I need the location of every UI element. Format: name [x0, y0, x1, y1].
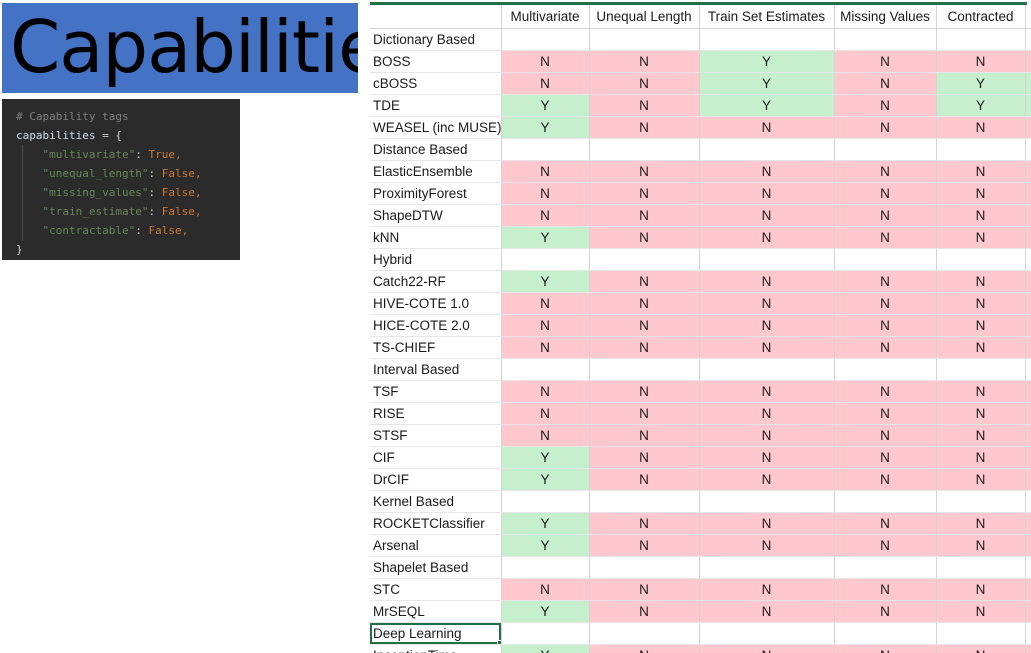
cell-multivariate[interactable]: Y	[501, 513, 589, 535]
cell-unequal-length[interactable]	[589, 29, 699, 51]
classifier-name-cell[interactable]: WEASEL (inc MUSE)	[370, 117, 501, 139]
cell-train-set-estimates[interactable]: N	[699, 183, 834, 205]
classifier-name-cell[interactable]: CIF	[370, 447, 501, 469]
cell-unequal-length[interactable]: N	[589, 535, 699, 557]
cell-contracted[interactable]: N	[936, 469, 1025, 491]
code-snippet-block: # Capability tags capabilities = { "mult…	[2, 99, 240, 260]
classifier-name-cell[interactable]: TDE	[370, 95, 501, 117]
cell-multivariate[interactable]	[501, 249, 589, 271]
cell-unequal-length[interactable]: N	[589, 227, 699, 249]
classifier-name-cell[interactable]: Catch22-RF	[370, 271, 501, 293]
table-row[interactable]: CIFYNNNN	[370, 447, 1031, 469]
table-row[interactable]: ElasticEnsembleNNNNN	[370, 161, 1031, 183]
cell-unequal-length[interactable]: N	[589, 161, 699, 183]
classifier-name-cell[interactable]: ElasticEnsemble	[370, 161, 501, 183]
cell-unequal-length[interactable]: N	[589, 425, 699, 447]
cell-multivariate[interactable]: N	[501, 293, 589, 315]
cell-contracted[interactable]: N	[936, 183, 1025, 205]
cell-multivariate[interactable]: N	[501, 315, 589, 337]
code-line-entry-4: "contractable": False,	[2, 221, 240, 240]
cell-missing-values[interactable]: N	[834, 513, 936, 535]
cell-train-set-estimates[interactable]: N	[699, 403, 834, 425]
table-row[interactable]: TSFNNNNN	[370, 381, 1031, 403]
code-line-assign: capabilities = {	[2, 126, 240, 145]
cell-missing-values[interactable]: N	[834, 579, 936, 601]
cell-missing-values[interactable]: N	[834, 447, 936, 469]
cell-spacer	[1025, 337, 1031, 359]
code-key-train-estimate: "train_estimate"	[43, 205, 149, 218]
cell-spacer	[1025, 623, 1031, 645]
cell-missing-values[interactable]: N	[834, 205, 936, 227]
cell-spacer	[1025, 73, 1031, 95]
cell-train-set-estimates[interactable]: Y	[699, 51, 834, 73]
cell-missing-values[interactable]: N	[834, 95, 936, 117]
table-body[interactable]: Dictionary BasedBOSSNNYNNcBOSSNNYNYTDEYN…	[370, 29, 1031, 653]
table-row[interactable]: WEASEL (inc MUSE)YNNNN	[370, 117, 1031, 139]
code-value-multivariate: True,	[148, 148, 181, 161]
cell-contracted[interactable]	[936, 557, 1025, 579]
cell-train-set-estimates[interactable]: N	[699, 447, 834, 469]
table-row[interactable]: ROCKETClassifierYNNNN	[370, 513, 1031, 535]
table-group-row[interactable]: Dictionary Based	[370, 29, 1031, 51]
slide-left-panel: Capabilities # Capability tags capabilit…	[0, 0, 368, 653]
cell-multivariate[interactable]: Y	[501, 271, 589, 293]
cell-spacer	[1025, 139, 1031, 161]
code-value-contractable: False,	[148, 224, 188, 237]
cell-spacer	[1025, 249, 1031, 271]
cell-spacer	[1025, 557, 1031, 579]
table-row[interactable]: DrCIFYNNNN	[370, 469, 1031, 491]
cell-missing-values[interactable]: N	[834, 601, 936, 623]
cell-missing-values[interactable]	[834, 249, 936, 271]
cell-unequal-length[interactable]: N	[589, 315, 699, 337]
cell-contracted[interactable]: N	[936, 271, 1025, 293]
classifier-name-cell[interactable]: TSF	[370, 381, 501, 403]
cell-spacer	[1025, 381, 1031, 403]
cell-missing-values[interactable]: N	[834, 51, 936, 73]
table-row[interactable]: cBOSSNNYNY	[370, 73, 1031, 95]
cell-multivariate[interactable]: Y	[501, 95, 589, 117]
cell-unequal-length[interactable]: N	[589, 117, 699, 139]
cell-missing-values[interactable]: N	[834, 645, 936, 653]
classifier-name-cell[interactable]: HIVE-COTE 1.0	[370, 293, 501, 315]
table-row[interactable]: ArsenalYNNNN	[370, 535, 1031, 557]
cell-missing-values[interactable]: N	[834, 227, 936, 249]
code-assign-operator: = {	[95, 129, 122, 142]
table-row[interactable]: ShapeDTWNNNNN	[370, 205, 1031, 227]
cell-unequal-length[interactable]: N	[589, 403, 699, 425]
cell-unequal-length[interactable]: N	[589, 95, 699, 117]
cell-train-set-estimates[interactable]: Y	[699, 73, 834, 95]
classifier-name-cell[interactable]: ROCKETClassifier	[370, 513, 501, 535]
cell-contracted[interactable]: Y	[936, 95, 1025, 117]
cell-contracted[interactable]: N	[936, 51, 1025, 73]
classifier-name-cell[interactable]: InceptionTime	[370, 645, 501, 653]
cell-missing-values[interactable]: N	[834, 117, 936, 139]
cell-multivariate[interactable]: Y	[501, 227, 589, 249]
cell-spacer	[1025, 183, 1031, 205]
table-row[interactable]: InceptionTimeYNNNN	[370, 645, 1031, 653]
classifier-name-cell[interactable]: DrCIF	[370, 469, 501, 491]
cell-unequal-length[interactable]: N	[589, 513, 699, 535]
classifier-name-cell[interactable]: MrSEQL	[370, 601, 501, 623]
table-group-row[interactable]: Hybrid	[370, 249, 1031, 271]
cell-multivariate[interactable]	[501, 29, 589, 51]
cell-multivariate[interactable]: N	[501, 579, 589, 601]
cell-multivariate[interactable]: N	[501, 161, 589, 183]
cell-spacer	[1025, 293, 1031, 315]
code-sep-2: :	[148, 186, 161, 199]
cell-spacer	[1025, 601, 1031, 623]
classifier-name-cell[interactable]: BOSS	[370, 51, 501, 73]
cell-contracted[interactable]: N	[936, 293, 1025, 315]
cell-train-set-estimates[interactable]: N	[699, 271, 834, 293]
cell-spacer	[1025, 491, 1031, 513]
cell-contracted[interactable]	[936, 623, 1025, 645]
cell-contracted[interactable]	[936, 139, 1025, 161]
classifier-name-cell[interactable]: HICE-COTE 2.0	[370, 315, 501, 337]
cell-spacer	[1025, 51, 1031, 73]
cell-train-set-estimates[interactable]: N	[699, 205, 834, 227]
cell-train-set-estimates[interactable]: N	[699, 513, 834, 535]
cell-spacer	[1025, 271, 1031, 293]
code-line-entry-2: "missing_values": False,	[2, 183, 240, 202]
cell-multivariate[interactable]: N	[501, 403, 589, 425]
cell-unequal-length[interactable]: N	[589, 51, 699, 73]
table-group-row[interactable]: Deep Learning	[370, 623, 1031, 645]
cell-unequal-length[interactable]: N	[589, 271, 699, 293]
cell-train-set-estimates[interactable]: N	[699, 293, 834, 315]
capabilities-table[interactable]: Multivariate Unequal Length Train Set Es…	[370, 5, 1031, 653]
table-row[interactable]: HICE-COTE 2.0NNNNN	[370, 315, 1031, 337]
cell-unequal-length[interactable]	[589, 491, 699, 513]
cell-train-set-estimates[interactable]: N	[699, 601, 834, 623]
cell-train-set-estimates[interactable]	[699, 139, 834, 161]
cell-spacer	[1025, 315, 1031, 337]
cell-train-set-estimates[interactable]: N	[699, 337, 834, 359]
cell-train-set-estimates[interactable]: N	[699, 117, 834, 139]
cell-unequal-length[interactable]: N	[589, 337, 699, 359]
cell-train-set-estimates[interactable]: N	[699, 645, 834, 653]
cell-unequal-length[interactable]	[589, 139, 699, 161]
cell-train-set-estimates[interactable]: N	[699, 381, 834, 403]
cell-train-set-estimates[interactable]: N	[699, 579, 834, 601]
cell-spacer	[1025, 535, 1031, 557]
table-row[interactable]: TS-CHIEFNNNNN	[370, 337, 1031, 359]
cell-spacer	[1025, 645, 1031, 653]
table-row[interactable]: ProximityForestNNNNN	[370, 183, 1031, 205]
classifier-name-cell[interactable]: TS-CHIEF	[370, 337, 501, 359]
cell-train-set-estimates[interactable]: Y	[699, 95, 834, 117]
column-header-train-set-estimates[interactable]: Train Set Estimates	[699, 5, 834, 29]
table-row[interactable]: Catch22-RFYNNNN	[370, 271, 1031, 293]
title-banner: Capabilities	[2, 3, 358, 93]
table-row[interactable]: RISENNNNN	[370, 403, 1031, 425]
table-row[interactable]: MrSEQLYNNNN	[370, 601, 1031, 623]
cell-missing-values[interactable]: N	[834, 183, 936, 205]
table-group-row[interactable]: Shapelet Based	[370, 557, 1031, 579]
code-line-entry-0: "multivariate": True,	[2, 145, 240, 164]
cell-missing-values[interactable]: N	[834, 381, 936, 403]
cell-unequal-length[interactable]	[589, 623, 699, 645]
code-sep-4: :	[135, 224, 148, 237]
cell-contracted[interactable]: N	[936, 645, 1025, 653]
cell-spacer	[1025, 425, 1031, 447]
cell-multivariate[interactable]: Y	[501, 469, 589, 491]
code-key-multivariate: "multivariate"	[43, 148, 136, 161]
table-row[interactable]: STSFNNNNN	[370, 425, 1031, 447]
cell-multivariate[interactable]: N	[501, 337, 589, 359]
cell-spacer	[1025, 513, 1031, 535]
table-header-row: Multivariate Unequal Length Train Set Es…	[370, 5, 1031, 29]
cell-contracted[interactable]: Y	[936, 73, 1025, 95]
cell-train-set-estimates[interactable]: N	[699, 535, 834, 557]
table-group-row[interactable]: Kernel Based	[370, 491, 1031, 513]
cell-unequal-length[interactable]: N	[589, 183, 699, 205]
group-label-cell[interactable]: Deep Learning	[370, 623, 501, 645]
cell-contracted[interactable]: N	[936, 315, 1025, 337]
cell-multivariate[interactable]	[501, 359, 589, 381]
cell-multivariate[interactable]: N	[501, 73, 589, 95]
cell-unequal-length[interactable]: N	[589, 293, 699, 315]
table-row[interactable]: HIVE-COTE 1.0NNNNN	[370, 293, 1031, 315]
cell-contracted[interactable]: N	[936, 601, 1025, 623]
table-header: Multivariate Unequal Length Train Set Es…	[370, 5, 1031, 29]
cell-multivariate[interactable]: Y	[501, 601, 589, 623]
classifier-name-cell[interactable]: ProximityForest	[370, 183, 501, 205]
group-label-cell[interactable]: Hybrid	[370, 249, 501, 271]
table-row[interactable]: BOSSNNYNN	[370, 51, 1031, 73]
cell-missing-values[interactable]	[834, 557, 936, 579]
table-row[interactable]: TDEYNYNY	[370, 95, 1031, 117]
cell-missing-values[interactable]: N	[834, 337, 936, 359]
page-title: Capabilities	[10, 3, 358, 93]
cell-unequal-length[interactable]: N	[589, 73, 699, 95]
cell-missing-values[interactable]	[834, 139, 936, 161]
cell-unequal-length[interactable]: N	[589, 601, 699, 623]
cell-train-set-estimates[interactable]	[699, 623, 834, 645]
cell-train-set-estimates[interactable]	[699, 491, 834, 513]
cell-spacer	[1025, 447, 1031, 469]
column-header-classifier[interactable]	[370, 5, 501, 29]
cell-spacer	[1025, 403, 1031, 425]
cell-train-set-estimates[interactable]	[699, 359, 834, 381]
cell-contracted[interactable]: N	[936, 447, 1025, 469]
code-key-unequal-length: "unequal_length"	[43, 167, 149, 180]
cell-missing-values[interactable]: N	[834, 403, 936, 425]
cell-spacer	[1025, 469, 1031, 491]
cell-unequal-length[interactable]: N	[589, 205, 699, 227]
cell-missing-values[interactable]: N	[834, 271, 936, 293]
cell-multivariate[interactable]	[501, 623, 589, 645]
cell-multivariate[interactable]: N	[501, 51, 589, 73]
group-label-cell[interactable]: Shapelet Based	[370, 557, 501, 579]
cell-contracted[interactable]	[936, 359, 1025, 381]
classifier-name-cell[interactable]: Arsenal	[370, 535, 501, 557]
table-row[interactable]: kNNYNNNN	[370, 227, 1031, 249]
column-header-spacer	[1025, 5, 1031, 29]
column-header-unequal-length[interactable]: Unequal Length	[589, 5, 699, 29]
classifier-name-cell[interactable]: STSF	[370, 425, 501, 447]
code-value-unequal-length: False,	[162, 167, 202, 180]
table-group-row[interactable]: Interval Based	[370, 359, 1031, 381]
group-label-cell[interactable]: Interval Based	[370, 359, 501, 381]
cell-missing-values[interactable]: N	[834, 535, 936, 557]
cell-multivariate[interactable]: N	[501, 425, 589, 447]
cell-contracted[interactable]: N	[936, 381, 1025, 403]
cell-multivariate[interactable]	[501, 557, 589, 579]
group-label-cell[interactable]: Distance Based	[370, 139, 501, 161]
cell-contracted[interactable]: N	[936, 425, 1025, 447]
cell-spacer	[1025, 117, 1031, 139]
cell-multivariate[interactable]	[501, 491, 589, 513]
table-row[interactable]: STCNNNNN	[370, 579, 1031, 601]
cell-train-set-estimates[interactable]: N	[699, 227, 834, 249]
cell-contracted[interactable]: N	[936, 403, 1025, 425]
cell-contracted[interactable]: N	[936, 513, 1025, 535]
cell-unequal-length[interactable]	[589, 249, 699, 271]
cell-spacer	[1025, 359, 1031, 381]
cell-missing-values[interactable]: N	[834, 315, 936, 337]
fill-handle[interactable]	[497, 640, 502, 645]
cell-unequal-length[interactable]: N	[589, 381, 699, 403]
cell-train-set-estimates[interactable]: N	[699, 425, 834, 447]
code-value-train-estimate: False,	[162, 205, 202, 218]
code-value-missing-values: False,	[162, 186, 202, 199]
cell-contracted[interactable]: N	[936, 535, 1025, 557]
cell-missing-values[interactable]	[834, 29, 936, 51]
classifier-name-cell[interactable]: cBOSS	[370, 73, 501, 95]
code-line-close: }	[2, 240, 240, 259]
capabilities-spreadsheet[interactable]: Multivariate Unequal Length Train Set Es…	[368, 0, 1031, 653]
code-sep-0: :	[135, 148, 148, 161]
cell-train-set-estimates[interactable]: N	[699, 469, 834, 491]
cell-train-set-estimates[interactable]	[699, 557, 834, 579]
cell-spacer	[1025, 161, 1031, 183]
cell-train-set-estimates[interactable]: N	[699, 315, 834, 337]
code-sep-3: :	[148, 205, 161, 218]
cell-missing-values[interactable]	[834, 491, 936, 513]
cell-contracted[interactable]: N	[936, 117, 1025, 139]
cell-missing-values[interactable]	[834, 623, 936, 645]
cell-unequal-length[interactable]	[589, 359, 699, 381]
cell-unequal-length[interactable]: N	[589, 469, 699, 491]
cell-contracted[interactable]: N	[936, 227, 1025, 249]
group-label-cell[interactable]: Dictionary Based	[370, 29, 501, 51]
cell-missing-values[interactable]: N	[834, 425, 936, 447]
classifier-name-cell[interactable]: ShapeDTW	[370, 205, 501, 227]
cell-contracted[interactable]	[936, 491, 1025, 513]
cell-spacer	[1025, 29, 1031, 51]
cell-multivariate[interactable]	[501, 139, 589, 161]
cell-missing-values[interactable]: N	[834, 469, 936, 491]
column-header-contracted[interactable]: Contracted	[936, 5, 1025, 29]
code-sep-1: :	[148, 167, 161, 180]
cell-missing-values[interactable]	[834, 359, 936, 381]
cell-contracted[interactable]: N	[936, 161, 1025, 183]
cell-contracted[interactable]: N	[936, 205, 1025, 227]
cell-contracted[interactable]: N	[936, 337, 1025, 359]
cell-multivariate[interactable]: Y	[501, 645, 589, 653]
classifier-name-cell[interactable]: STC	[370, 579, 501, 601]
code-key-contractable: "contractable"	[43, 224, 136, 237]
cell-multivariate[interactable]: N	[501, 205, 589, 227]
cell-missing-values[interactable]: N	[834, 73, 936, 95]
cell-multivariate[interactable]: N	[501, 381, 589, 403]
cell-multivariate[interactable]: N	[501, 183, 589, 205]
cell-multivariate[interactable]: Y	[501, 447, 589, 469]
cell-multivariate[interactable]: Y	[501, 535, 589, 557]
cell-train-set-estimates[interactable]: N	[699, 161, 834, 183]
cell-spacer	[1025, 579, 1031, 601]
code-variable-name: capabilities	[16, 129, 95, 142]
cell-contracted[interactable]: N	[936, 579, 1025, 601]
cell-unequal-length[interactable]	[589, 557, 699, 579]
cell-unequal-length[interactable]: N	[589, 645, 699, 653]
cell-unequal-length[interactable]: N	[589, 447, 699, 469]
classifier-name-cell[interactable]: kNN	[370, 227, 501, 249]
code-line-comment: # Capability tags	[2, 107, 240, 126]
column-header-multivariate[interactable]: Multivariate	[501, 5, 589, 29]
cell-contracted[interactable]	[936, 29, 1025, 51]
classifier-name-cell[interactable]: RISE	[370, 403, 501, 425]
table-group-row[interactable]: Distance Based	[370, 139, 1031, 161]
cell-spacer	[1025, 95, 1031, 117]
cell-multivariate[interactable]: Y	[501, 117, 589, 139]
cell-spacer	[1025, 205, 1031, 227]
code-line-entry-1: "unequal_length": False,	[2, 164, 240, 183]
group-label-cell[interactable]: Kernel Based	[370, 491, 501, 513]
code-line-entry-3: "train_estimate": False,	[2, 202, 240, 221]
code-comment: # Capability tags	[16, 110, 129, 123]
code-indent-guide	[22, 145, 23, 241]
cell-unequal-length[interactable]: N	[589, 579, 699, 601]
column-header-missing-values[interactable]: Missing Values	[834, 5, 936, 29]
cell-train-set-estimates[interactable]	[699, 29, 834, 51]
cell-missing-values[interactable]: N	[834, 293, 936, 315]
code-close-brace: }	[16, 243, 23, 256]
cell-spacer	[1025, 227, 1031, 249]
cell-train-set-estimates[interactable]	[699, 249, 834, 271]
code-key-missing-values: "missing_values"	[43, 186, 149, 199]
cell-contracted[interactable]	[936, 249, 1025, 271]
cell-missing-values[interactable]: N	[834, 161, 936, 183]
